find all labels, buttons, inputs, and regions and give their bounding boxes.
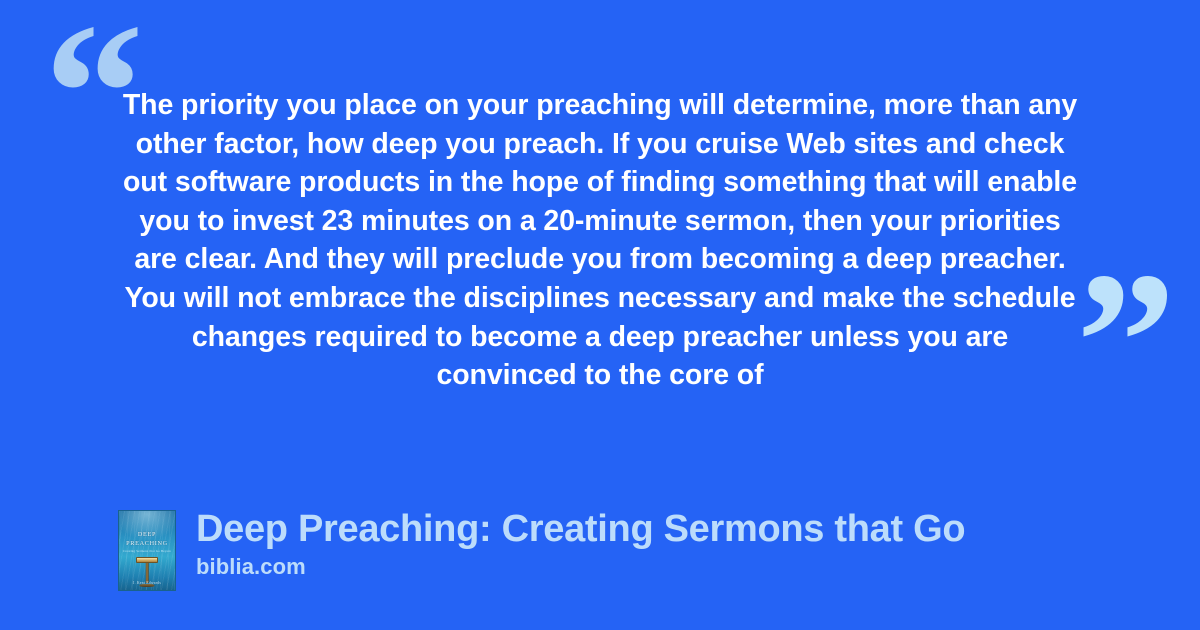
- book-cover-thumbnail: DEEP PREACHING Creating Sermons that Go …: [118, 510, 176, 591]
- cover-subtitle: Creating Sermons that Go Beyond the Supe…: [123, 549, 171, 553]
- close-quote-icon: ”: [1076, 243, 1176, 443]
- lectern-stem: [146, 563, 149, 583]
- book-title: Deep Preaching: Creating Sermons that Go: [196, 506, 965, 552]
- cover-title-line-2: PREACHING: [119, 540, 175, 548]
- footer-text-group: Deep Preaching: Creating Sermons that Go…: [196, 506, 965, 580]
- cover-title-line-1: DEEP: [119, 531, 175, 539]
- quote-block: The priority you place on your preaching…: [118, 86, 1082, 395]
- cover-author: J. Kent Edwards: [123, 581, 171, 585]
- quote-card: “ The priority you place on your preachi…: [0, 0, 1200, 630]
- site-name: biblia.com: [196, 554, 965, 580]
- footer-attribution: DEEP PREACHING Creating Sermons that Go …: [118, 506, 965, 591]
- quote-text: The priority you place on your preaching…: [118, 86, 1082, 395]
